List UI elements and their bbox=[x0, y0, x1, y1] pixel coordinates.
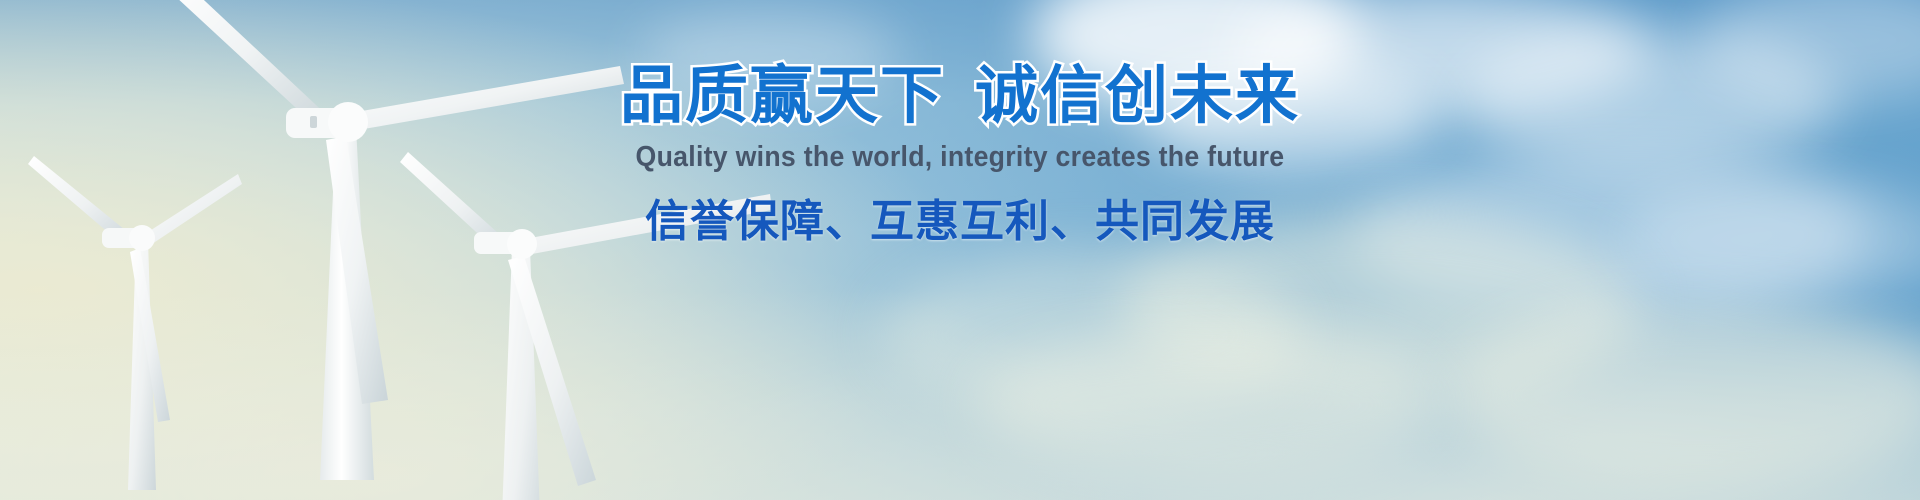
banner-subline-english: Quality wins the world, integrity create… bbox=[77, 140, 1843, 175]
banner-copy: 品质赢天下诚信创未来 Quality wins the world, integ… bbox=[0, 0, 1920, 500]
banner-headline: 品质赢天下诚信创未来 bbox=[0, 64, 1920, 127]
promo-banner: 品质赢天下诚信创未来 Quality wins the world, integ… bbox=[0, 0, 1920, 500]
headline-part-2: 诚信创未来 bbox=[975, 59, 1300, 132]
banner-tagline: 信誉保障、互惠互利、共同发展 bbox=[0, 200, 1920, 244]
headline-part-1: 品质赢天下 bbox=[620, 59, 945, 132]
